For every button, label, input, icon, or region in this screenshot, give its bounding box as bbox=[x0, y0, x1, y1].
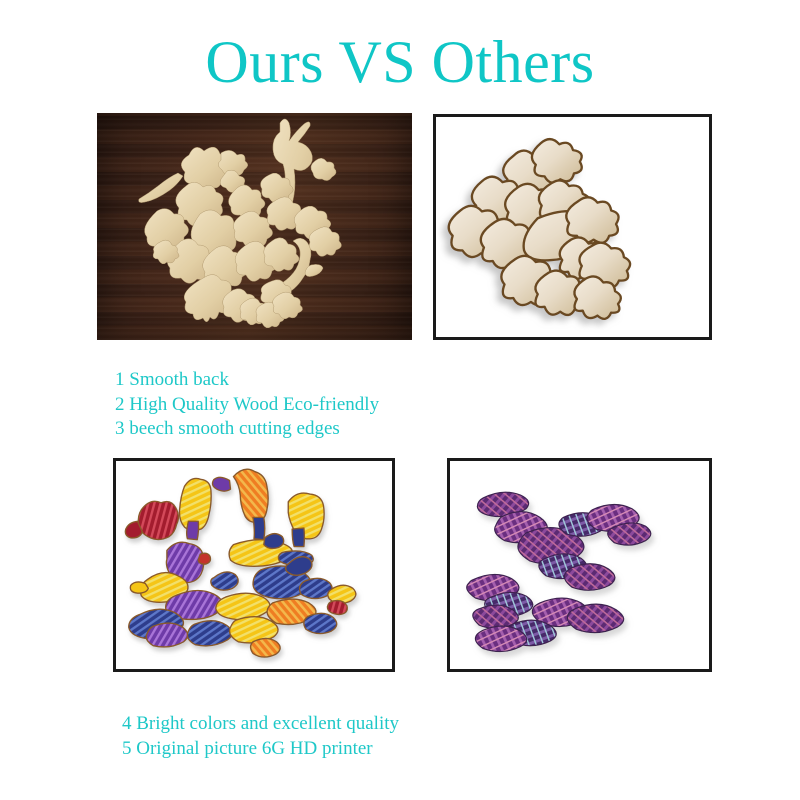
colorful-puzzle-pieces-graphic bbox=[116, 461, 392, 669]
feature-item: 1 Smooth back bbox=[115, 368, 379, 393]
ours-front-photo bbox=[113, 458, 395, 672]
feature-item: 5 Original picture 6G HD printer bbox=[122, 737, 399, 762]
infographic-page: Ours VS Others bbox=[0, 0, 800, 800]
ours-back-photo bbox=[97, 113, 412, 340]
wooden-puzzle-pieces-graphic bbox=[97, 113, 412, 340]
feature-item: 4 Bright colors and excellent quality bbox=[122, 712, 399, 737]
features-list-top: 1 Smooth back 2 High Quality Wood Eco-fr… bbox=[115, 368, 379, 442]
purple-puzzle-pieces-graphic bbox=[450, 461, 709, 669]
burnt-edge-puzzle-pieces-graphic bbox=[436, 117, 709, 337]
feature-item: 3 beech smooth cutting edges bbox=[115, 417, 379, 442]
feature-item: 2 High Quality Wood Eco-friendly bbox=[115, 393, 379, 418]
others-front-photo bbox=[447, 458, 712, 672]
features-list-bottom: 4 Bright colors and excellent quality 5 … bbox=[122, 712, 399, 761]
page-title: Ours VS Others bbox=[0, 31, 800, 93]
others-back-photo bbox=[433, 114, 712, 340]
